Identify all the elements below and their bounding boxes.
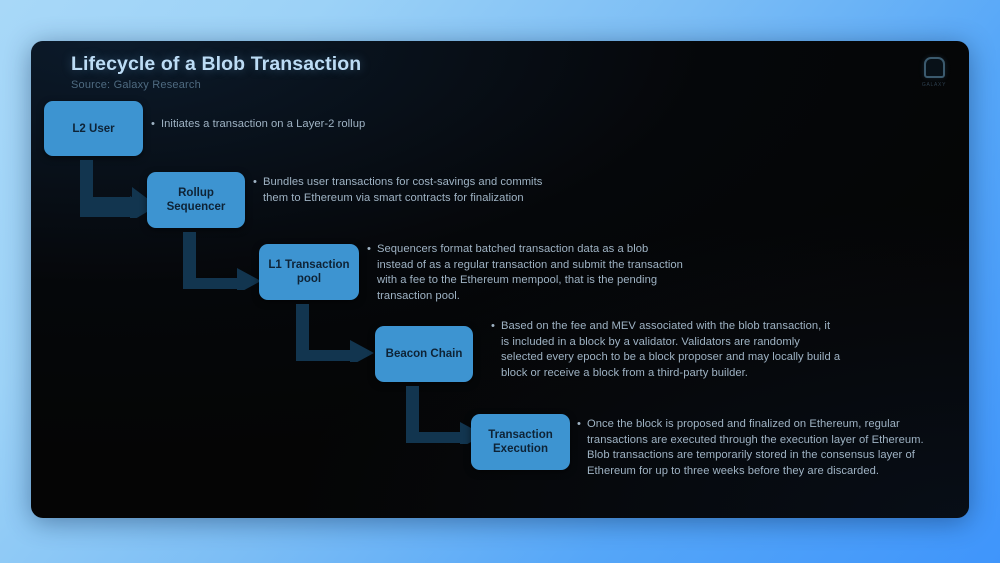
node-transaction-execution[interactable]: Transaction Execution [471,414,570,470]
source-subtitle: Source: Galaxy Research [71,79,201,91]
description-text: Once the block is proposed and finalized… [577,417,949,479]
node-label: L2 User [72,122,114,136]
arrow-connector-1 [80,160,156,218]
node-label: L1 Transaction pool [265,258,353,286]
description-beacon-chain: • Based on the fee and MEV associated wi… [491,319,841,381]
description-text: Based on the fee and MEV associated with… [491,319,841,381]
node-beacon-chain[interactable]: Beacon Chain [375,326,473,382]
bullet-icon: • [253,175,257,191]
arrow-connector-3 [296,304,378,362]
description-text: Sequencers format batched transaction da… [367,242,687,304]
node-rollup-sequencer[interactable]: Rollup Sequencer [147,172,245,228]
galaxy-logo-mark [924,57,945,78]
node-l1-transaction-pool[interactable]: L1 Transaction pool [259,244,359,300]
description-transaction-execution: • Once the block is proposed and finaliz… [577,417,949,479]
galaxy-logo-wordmark: GALAXY [922,82,946,88]
node-label: Rollup Sequencer [153,186,239,214]
arrow-connector-2 [183,232,265,290]
bullet-icon: • [577,417,581,433]
bullet-icon: • [151,117,155,133]
bullet-icon: • [367,242,371,258]
description-l2-user: • Initiates a transaction on a Layer-2 r… [151,117,551,133]
page-title: Lifecycle of a Blob Transaction [71,53,361,76]
node-l2-user[interactable]: L2 User [44,101,143,156]
description-text: Bundles user transactions for cost-savin… [253,175,553,206]
description-text: Initiates a transaction on a Layer-2 rol… [151,117,551,133]
node-label: Beacon Chain [386,347,463,361]
description-l1-transaction-pool: • Sequencers format batched transaction … [367,242,687,304]
galaxy-logo: GALAXY [913,49,955,95]
node-label: Transaction Execution [477,428,564,456]
description-rollup-sequencer: • Bundles user transactions for cost-sav… [253,175,553,206]
diagram-panel: Lifecycle of a Blob Transaction Source: … [31,41,969,518]
bullet-icon: • [491,319,495,335]
